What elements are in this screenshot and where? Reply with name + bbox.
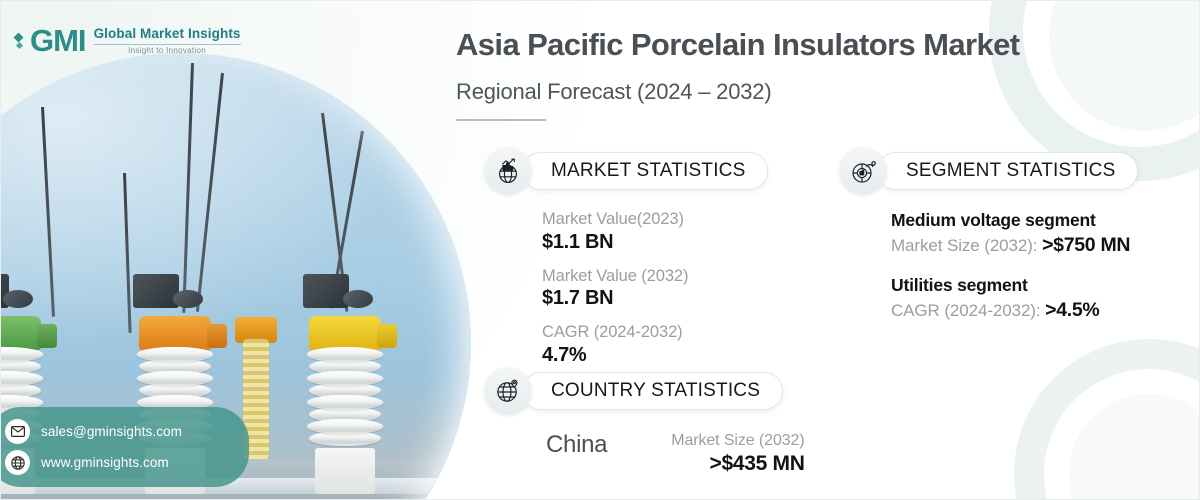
stat-value: >$435 MN (671, 451, 804, 477)
segment-metric-label: Market Size (2032): (891, 236, 1042, 255)
stat-label: CAGR (2024-2032) (542, 322, 768, 343)
page-title: Asia Pacific Porcelain Insulators Market (456, 27, 1020, 63)
segment-metric-value: >4.5% (1045, 299, 1099, 321)
segment-statistics-heading: SEGMENT STATISTICS (877, 152, 1138, 190)
decorative-ring-bottom-right (1014, 339, 1200, 500)
stat-label: Market Value (2032) (542, 266, 768, 287)
segment-metric-label: CAGR (2024-2032): (891, 301, 1045, 320)
stat-value: $1.1 BN (542, 230, 768, 255)
contact-panel: sales@gminsights.com www.gminsights.com (0, 407, 249, 487)
globe-bar-chart-icon (484, 147, 532, 195)
stat-label: Market Size (2032) (671, 431, 804, 451)
logo-mark-text: GMI (30, 23, 86, 59)
segment-name: Medium voltage segment (891, 209, 1138, 232)
contact-email: sales@gminsights.com (41, 424, 182, 439)
segment-statistics-list: Medium voltage segment Market Size (2032… (839, 209, 1138, 323)
globe-icon (5, 450, 30, 475)
country-statistics-block: COUNTRY STATISTICS China Market Size (20… (484, 367, 805, 477)
stat-value: $1.7 BN (542, 286, 768, 311)
segment-metric-value: >$750 MN (1042, 234, 1130, 256)
market-statistics-block: MARKET STATISTICS Market Value(2023) $1.… (484, 147, 768, 379)
envelope-icon (5, 419, 30, 444)
segment-name: Utilities segment (891, 274, 1138, 297)
contact-email-row[interactable]: sales@gminsights.com (5, 416, 239, 447)
segment-metric-row: Market Size (2032): >$750 MN (891, 232, 1138, 258)
stat-item: Market Value(2023) $1.1 BN (542, 209, 768, 255)
globe-pin-icon (484, 367, 532, 415)
decorative-circle-top-right (1049, 0, 1200, 131)
stat-value: 4.7% (542, 343, 768, 368)
logo-company-name: Global Market Insights (94, 27, 241, 41)
stat-label: Market Value(2023) (542, 209, 768, 230)
contact-website: www.gminsights.com (41, 455, 169, 470)
stat-item: CAGR (2024-2032) 4.7% (542, 322, 768, 368)
country-statistics-row: China Market Size (2032) >$435 MN (484, 431, 805, 477)
infographic-canvas: GMI Global Market Insights Insight to In… (0, 0, 1200, 500)
market-statistics-heading: MARKET STATISTICS (522, 152, 768, 190)
segment-statistics-block: SEGMENT STATISTICS Medium voltage segmen… (839, 147, 1138, 339)
segment-metric-row: CAGR (2024-2032): >4.5% (891, 297, 1138, 323)
market-statistics-list: Market Value(2023) $1.1 BN Market Value … (484, 209, 768, 368)
country-statistics-heading: COUNTRY STATISTICS (522, 372, 783, 410)
headline-divider (456, 119, 546, 121)
headline-group: Asia Pacific Porcelain Insulators Market… (456, 27, 1020, 121)
logo-divider (94, 44, 241, 45)
segment-item: Medium voltage segment Market Size (2032… (891, 209, 1138, 258)
decorative-circle-bottom-right (1069, 394, 1200, 500)
contact-website-row[interactable]: www.gminsights.com (5, 447, 239, 478)
pie-chart-arrow-icon (839, 147, 887, 195)
stat-item: Market Value (2032) $1.7 BN (542, 266, 768, 312)
brand-logo[interactable]: GMI Global Market Insights Insight to In… (15, 23, 241, 59)
segment-item: Utilities segment CAGR (2024-2032): >4.5… (891, 274, 1138, 323)
logo-diamond-mark (15, 34, 22, 48)
country-name: China (546, 431, 607, 459)
country-metric: Market Size (2032) >$435 MN (671, 431, 804, 477)
logo-tagline: Insight to Innovation (94, 47, 241, 55)
page-subtitle: Regional Forecast (2024 – 2032) (456, 79, 1020, 105)
